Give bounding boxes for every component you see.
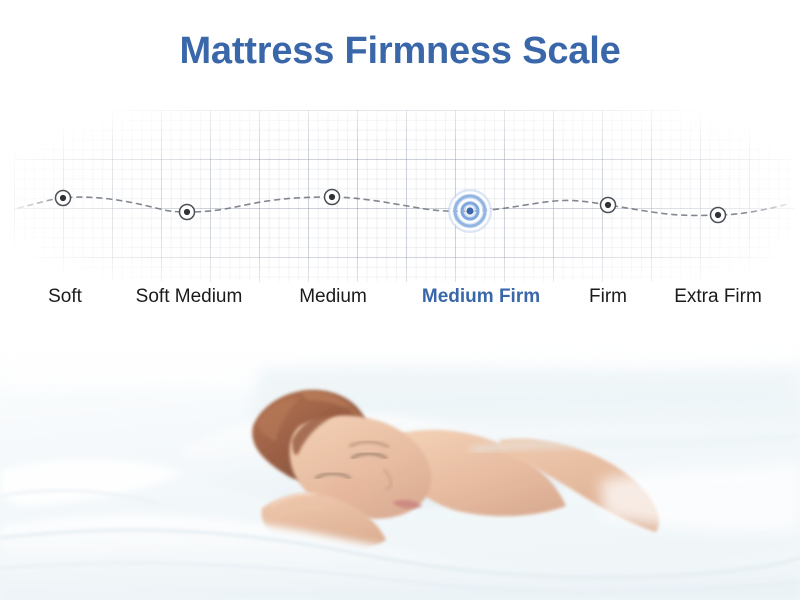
scale-label-soft-medium[interactable]: Soft Medium xyxy=(136,286,243,308)
bed-illustration xyxy=(0,330,800,600)
wave-line xyxy=(18,197,788,215)
scale-label-medium-firm[interactable]: Medium Firm xyxy=(422,286,540,308)
scale-label-extra-firm[interactable]: Extra Firm xyxy=(674,286,762,308)
scale-label-firm[interactable]: Firm xyxy=(589,286,627,308)
firmness-wave-chart xyxy=(0,108,800,284)
sleeping-woman-photo xyxy=(0,330,800,600)
page-title: Mattress Firmness Scale xyxy=(0,30,800,73)
mattress-firmness-page: Mattress Firmness Scale xyxy=(0,0,800,600)
scale-labels: Soft Soft Medium Medium Medium Firm Firm… xyxy=(0,286,800,326)
scale-label-soft[interactable]: Soft xyxy=(48,286,82,308)
scale-label-medium[interactable]: Medium xyxy=(299,286,367,308)
firmness-scale[interactable]: Soft Soft Medium Medium Medium Firm Firm… xyxy=(0,108,800,328)
